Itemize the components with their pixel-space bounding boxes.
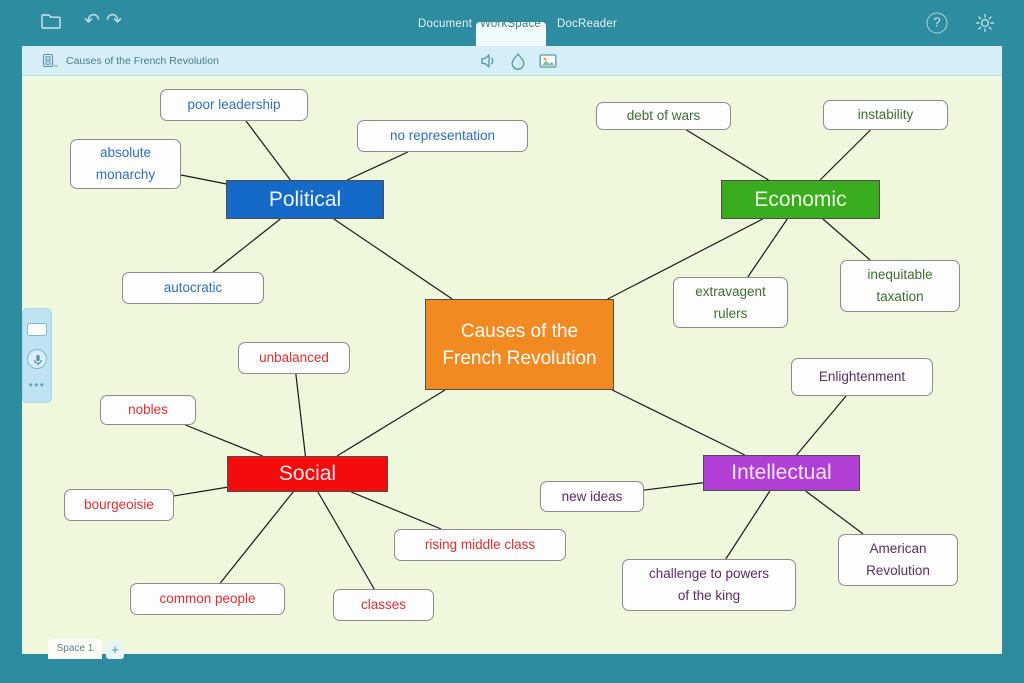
space-tab-1[interactable]: Space 1 (48, 639, 102, 659)
space-bar (22, 632, 1002, 654)
branch-node-political[interactable]: Political (226, 180, 384, 219)
connector-line (174, 487, 227, 496)
branch-node-social[interactable]: Social (227, 456, 388, 492)
connector-line (351, 492, 441, 529)
leaf-node-social-3-label: rising middle class (425, 534, 535, 556)
connector-line (181, 175, 226, 184)
leaf-node-social-3[interactable]: rising middle class (394, 529, 566, 561)
connector-line (797, 396, 846, 455)
leaf-node-political-3[interactable]: autocratic (122, 272, 264, 304)
connector-line (220, 492, 293, 583)
center-node[interactable]: Causes of the French Revolution (425, 299, 614, 390)
leaf-node-social-2-label: bourgeoisie (84, 494, 154, 516)
leaf-node-economic-3[interactable]: inequitable taxation (840, 260, 960, 312)
document-header: Causes of the French Revolution (22, 46, 1002, 76)
add-space-button[interactable]: + (106, 641, 124, 659)
connector-line (185, 425, 262, 456)
connector-line (820, 130, 870, 180)
leaf-node-political-0[interactable]: poor leadership (160, 89, 308, 121)
mindmap-canvas[interactable]: Causes of the French RevolutionPolitical… (22, 76, 1002, 632)
app-window: ↶ ↷ Document WorkSpace DocReader ? (0, 0, 1024, 683)
tool-sidepanel[interactable]: ••• (22, 308, 52, 403)
connector-line (686, 130, 768, 180)
connector-line (612, 390, 745, 455)
branch-node-economic-label: Economic (754, 188, 846, 212)
leaf-node-political-2-label: no representation (390, 125, 495, 147)
leaf-node-political-1-label: absolute monarchy (96, 142, 155, 186)
leaf-node-social-4-label: common people (159, 588, 255, 610)
connector-line (337, 390, 445, 456)
leaf-node-social-0[interactable]: unbalanced (238, 342, 350, 374)
leaf-node-intellectual-2-label: challenge to powers of the king (649, 563, 769, 607)
branch-node-social-label: Social (279, 462, 336, 486)
leaf-node-intellectual-1-label: new ideas (562, 486, 623, 508)
mindmap-icon (42, 53, 59, 70)
leaf-node-social-0-label: unbalanced (259, 347, 329, 369)
connector-line (334, 219, 452, 299)
leaf-node-intellectual-2[interactable]: challenge to powers of the king (622, 559, 796, 611)
leaf-node-economic-2-label: extravagent rulers (695, 281, 766, 325)
leaf-node-economic-1-label: instability (858, 104, 914, 126)
document-title: Causes of the French Revolution (66, 55, 219, 67)
help-icon[interactable]: ? (927, 13, 948, 34)
connector-line (213, 219, 280, 272)
leaf-node-intellectual-0[interactable]: Enlightenment (791, 358, 933, 396)
image-icon[interactable] (537, 50, 559, 72)
highlighter-icon[interactable] (507, 50, 529, 72)
microphone-tool-icon[interactable] (27, 349, 47, 369)
leaf-node-intellectual-3[interactable]: American Revolution (838, 534, 958, 586)
tab-docreader[interactable]: DocReader (557, 18, 617, 30)
connector-line (296, 374, 306, 456)
leaf-node-economic-1[interactable]: instability (823, 100, 948, 130)
rounded-rect-tool-icon[interactable] (27, 323, 47, 336)
connector-line (823, 219, 870, 260)
connector-line (644, 483, 703, 490)
top-toolbar: ↶ ↷ Document WorkSpace DocReader ? (0, 0, 1024, 46)
connector-line (318, 492, 374, 589)
leaf-node-social-2[interactable]: bourgeoisie (64, 489, 174, 521)
connector-line (246, 121, 290, 180)
leaf-node-social-1-label: nobles (128, 399, 168, 421)
connector-line (726, 491, 770, 559)
connector-line (806, 491, 864, 534)
center-node-label: Causes of the French Revolution (442, 318, 596, 372)
speaker-icon[interactable] (477, 50, 499, 72)
leaf-node-political-0-label: poor leadership (187, 94, 280, 116)
leaf-node-social-5-label: classes (361, 594, 406, 616)
connector-line (347, 152, 408, 180)
leaf-node-intellectual-1[interactable]: new ideas (540, 481, 644, 512)
branch-node-intellectual[interactable]: Intellectual (703, 455, 860, 491)
leaf-node-economic-3-label: inequitable taxation (867, 264, 932, 308)
leaf-node-social-5[interactable]: classes (333, 589, 434, 621)
leaf-node-political-3-label: autocratic (164, 277, 223, 299)
leaf-node-intellectual-0-label: Enlightenment (819, 366, 905, 388)
leaf-node-intellectual-3-label: American Revolution (866, 538, 930, 582)
leaf-node-economic-2[interactable]: extravagent rulers (673, 277, 788, 328)
tab-workspace[interactable]: WorkSpace (480, 18, 541, 30)
branch-node-intellectual-label: Intellectual (731, 461, 831, 485)
tab-bar: Document WorkSpace DocReader (0, 0, 1024, 46)
leaf-node-social-4[interactable]: common people (130, 583, 285, 615)
gear-icon[interactable] (974, 12, 996, 34)
branch-node-economic[interactable]: Economic (721, 180, 880, 219)
leaf-node-political-1[interactable]: absolute monarchy (70, 139, 181, 189)
branch-node-political-label: Political (269, 188, 341, 212)
leaf-node-economic-0[interactable]: debt of wars (596, 102, 731, 130)
tab-document[interactable]: Document (418, 18, 472, 30)
leaf-node-economic-0-label: debt of wars (627, 105, 701, 127)
connector-line (748, 219, 787, 277)
leaf-node-social-1[interactable]: nobles (100, 395, 196, 425)
more-options-icon[interactable]: ••• (29, 379, 46, 391)
leaf-node-political-2[interactable]: no representation (357, 120, 528, 152)
doc-tool-group (477, 50, 592, 74)
